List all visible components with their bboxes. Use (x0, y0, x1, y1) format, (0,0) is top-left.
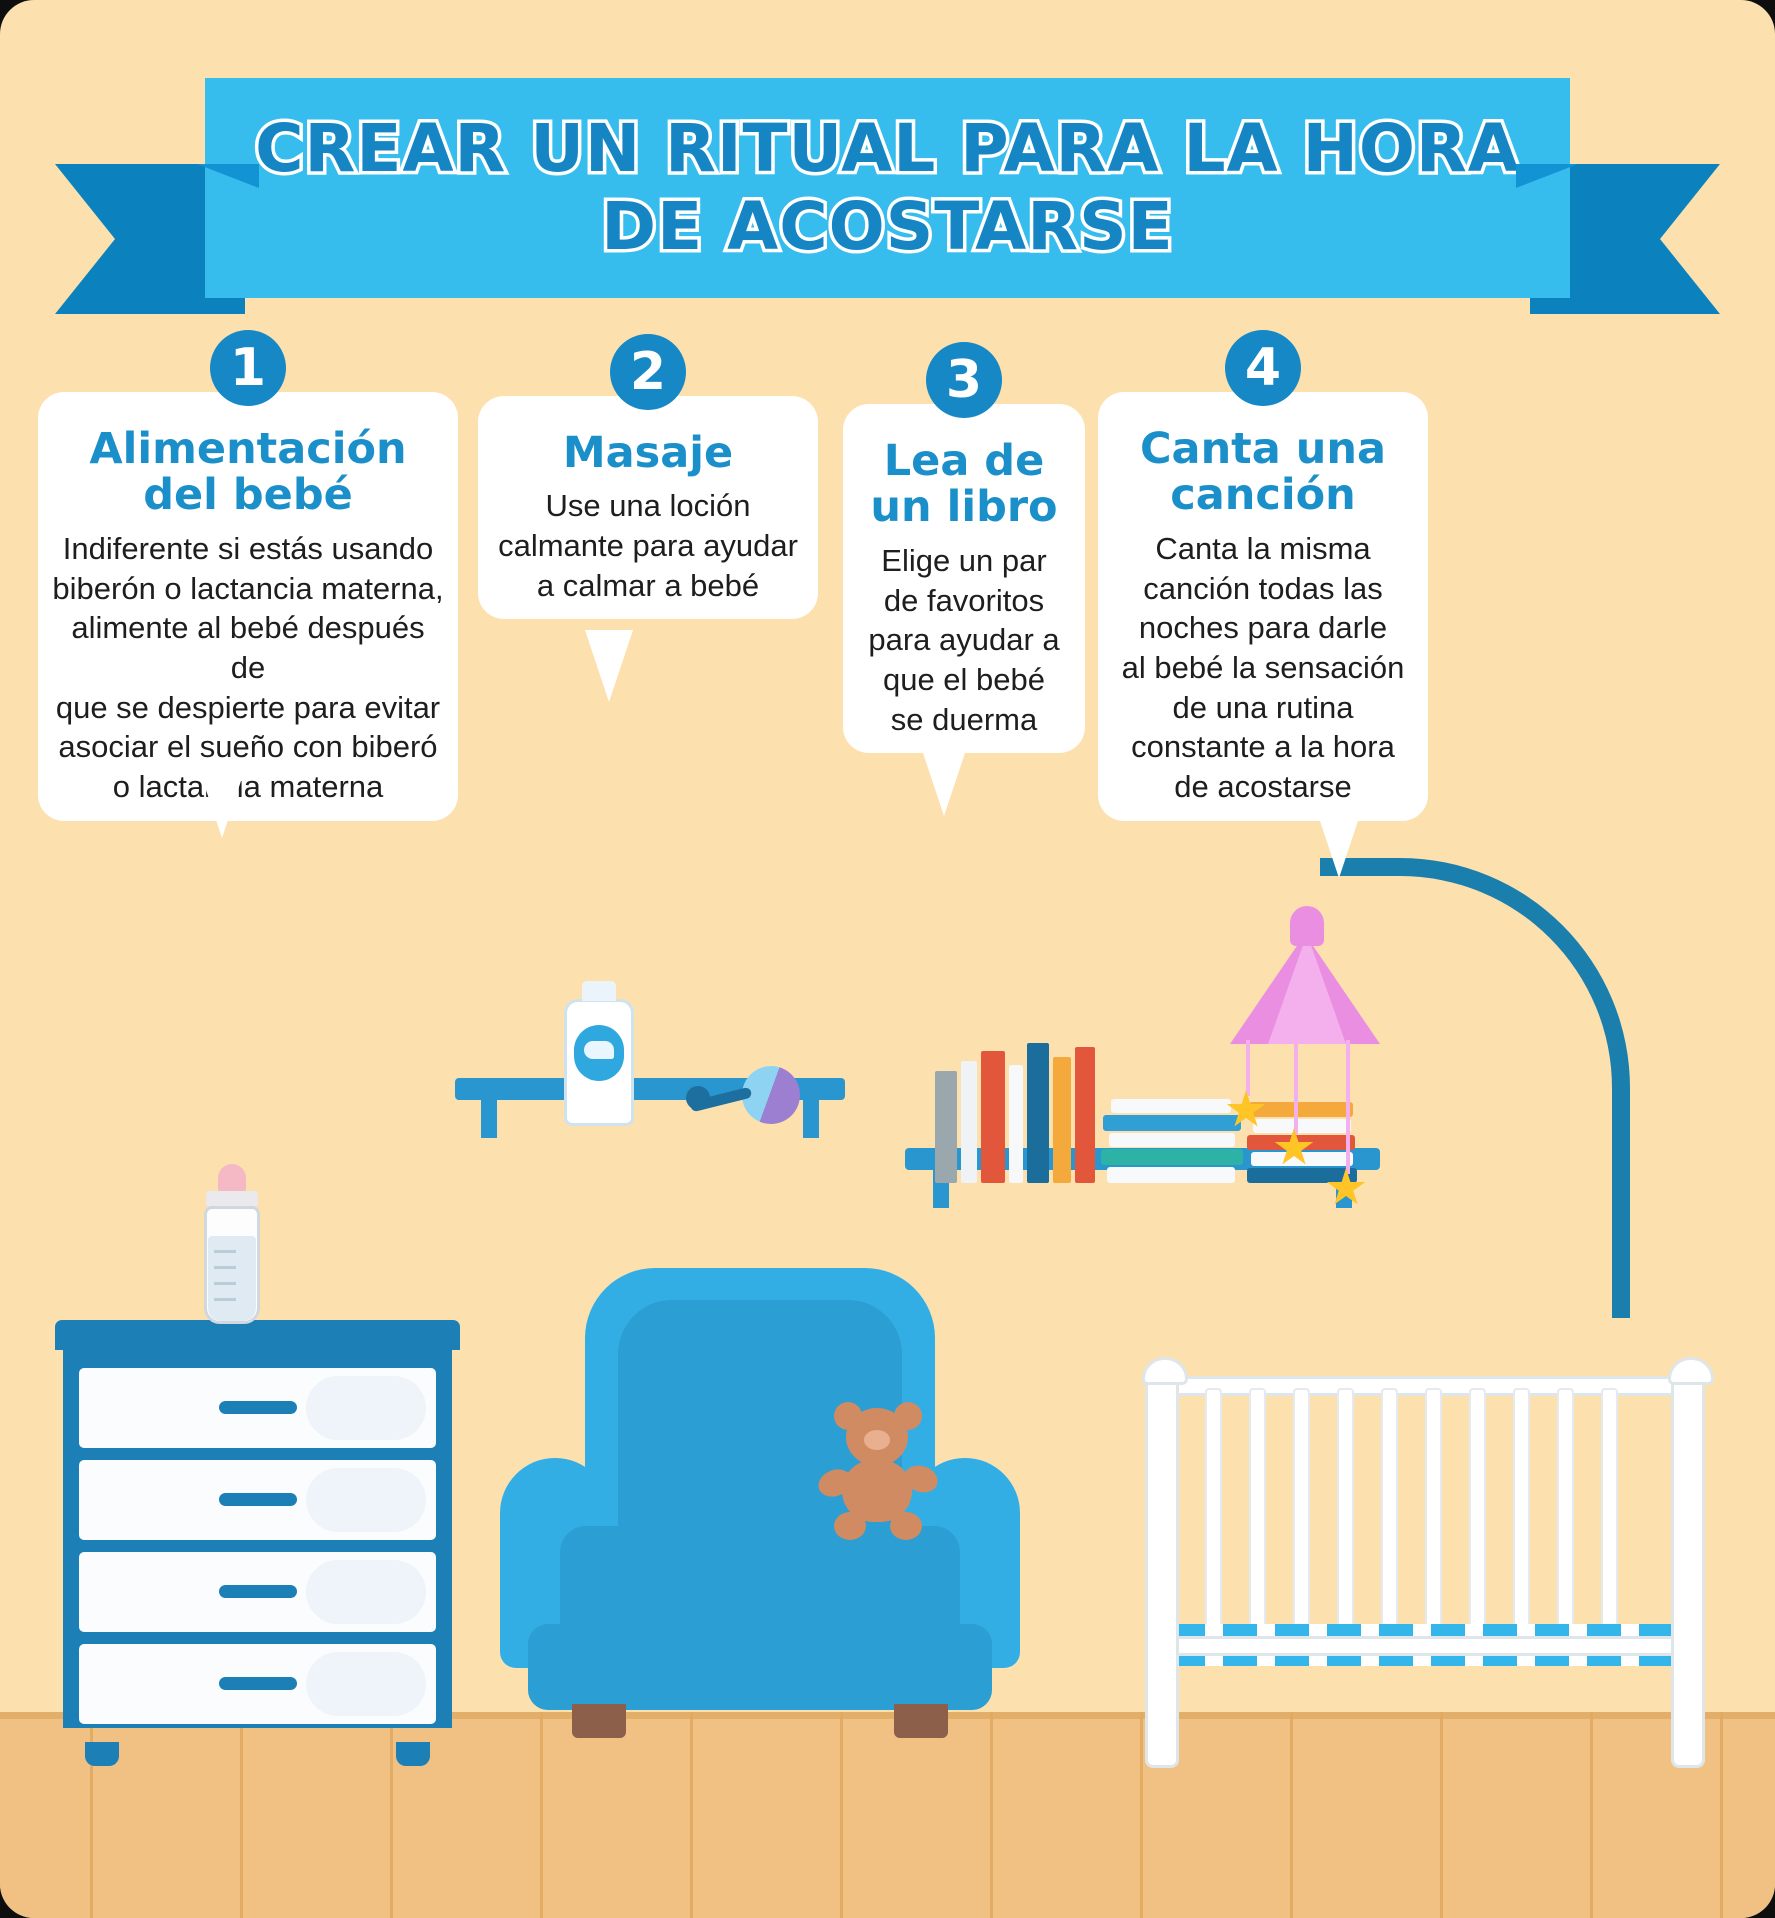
step-number-badge: 2 (610, 334, 686, 410)
card-4-tail (1315, 806, 1363, 878)
step-number-badge: 4 (1225, 330, 1301, 406)
step-card-4: 4 Canta una canción Canta la misma canci… (1098, 392, 1428, 821)
step-body: Elige un par de favoritos para ayudar a … (857, 541, 1071, 739)
step-body: Use una loción calmante para ayudar a ca… (492, 486, 804, 605)
title-ribbon: CREAR UN RITUAL PARA LA HORA DE ACOSTARS… (0, 78, 1775, 328)
dresser (55, 1320, 460, 1750)
teddy-bear (820, 1408, 940, 1548)
infographic-poster: CREAR UN RITUAL PARA LA HORA DE ACOSTARS… (0, 0, 1775, 1918)
page-title: CREAR UN RITUAL PARA LA HORA DE ACOSTARS… (205, 110, 1570, 266)
step-card-2: 2 Masaje Use una loción calmante para ay… (478, 396, 818, 619)
ribbon-banner: CREAR UN RITUAL PARA LA HORA DE ACOSTARS… (205, 78, 1570, 298)
crib-mobile (1320, 858, 1650, 1398)
step-card-3: 3 Lea de un libro Elige un par de favori… (843, 404, 1085, 753)
step-title: Lea de un libro (857, 438, 1071, 531)
crib (1145, 1348, 1705, 1768)
armchair (500, 1268, 1020, 1768)
step-body: Indiferente si estás usando biberón o la… (52, 529, 444, 807)
card-2-tail (585, 630, 633, 702)
step-body: Canta la misma canción todas las noches … (1112, 529, 1414, 807)
card-3-tail (920, 744, 968, 816)
card-1-tail (198, 766, 246, 838)
step-number-badge: 1 (210, 330, 286, 406)
step-title: Canta una canción (1112, 426, 1414, 519)
lotion-tube (560, 981, 638, 1126)
step-number-badge: 3 (926, 342, 1002, 418)
step-title: Masaje (492, 430, 804, 476)
step-title: Alimentación del bebé (52, 426, 444, 519)
baby-rattle (690, 1066, 800, 1128)
baby-bottle (190, 1164, 274, 1326)
step-card-1: 1 Alimentación del bebé Indiferente si e… (38, 392, 458, 821)
